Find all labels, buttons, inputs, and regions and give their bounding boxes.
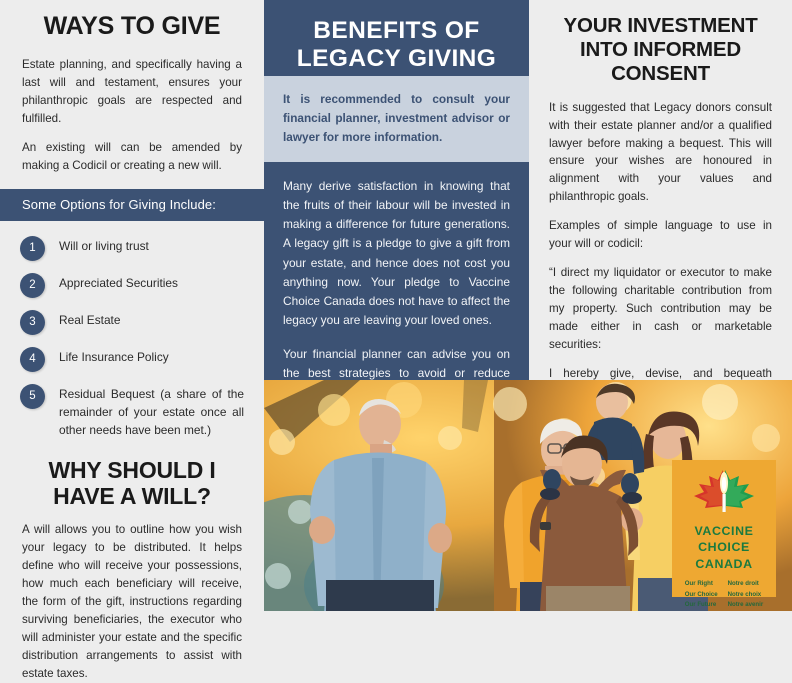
logo-tagline: Our Right Our Choice Our Future Notre dr… [672,579,776,610]
consent-paragraph-2: Examples of simple language to use in yo… [549,217,772,253]
option-number-badge: 2 [20,273,45,298]
ways-to-give-heading: WAYS TO GIVE [0,0,264,40]
logo-wordmark: VACCINE CHOICE CANADA [672,523,776,572]
tagline-fr-1: Notre droit [728,579,764,589]
why-will-body: A will allows you to outline how you wis… [0,510,264,683]
logo-tagline-english: Our Right Our Choice Our Future [685,579,718,610]
intro-paragraph-1: Estate planning, and specifically having… [22,56,242,128]
logo-line-3: CANADA [672,556,776,572]
left-column: WAYS TO GIVE Estate planning, and specif… [0,0,264,611]
option-label: Appreciated Securities [59,272,178,293]
giving-options-list: 1 Will or living trust 2 Appreciated Sec… [0,221,264,440]
list-item: 5 Residual Bequest (a share of the remai… [20,383,244,440]
option-number-badge: 4 [20,347,45,372]
benefits-heading: BENEFITS OF LEGACY GIVING [264,0,529,76]
option-number-badge: 1 [20,236,45,261]
option-number-badge: 5 [20,384,45,409]
intro-paragraph-2: An existing will can be amended by makin… [22,139,242,175]
benefits-callout: It is recommended to consult your financ… [264,76,529,162]
option-label: Residual Bequest (a share of the remaind… [59,383,244,440]
list-item: 3 Real Estate [20,309,244,335]
tagline-en-2: Our Choice [685,590,718,600]
options-bar: Some Options for Giving Include: [0,189,264,221]
benefits-body: Many derive satisfaction in knowing that… [264,162,529,395]
tagline-fr-3: Notre avenir [728,600,764,610]
why-will-heading: WHY SHOULD I HAVE A WILL? [0,458,264,510]
list-item: 4 Life Insurance Policy [20,346,244,372]
logo-line-2: CHOICE [672,539,776,555]
consent-paragraph-1: It is suggested that Legacy donors consu… [549,99,772,207]
benefits-paragraph-1: Many derive satisfaction in knowing that… [283,177,510,329]
why-will-section: WHY SHOULD I HAVE A WILL? A will allows … [0,458,264,682]
option-label: Real Estate [59,309,120,330]
logo-line-1: VACCINE [672,523,776,539]
tagline-fr-2: Notre choix [728,590,764,600]
informed-consent-heading: YOUR INVESTMENT INTO INFORMED CONSENT [529,0,792,87]
brochure-page: WAYS TO GIVE Estate planning, and specif… [0,0,792,611]
list-item: 1 Will or living trust [20,235,244,261]
tagline-en-3: Our Future [685,600,718,610]
consent-paragraph-3: “I direct my liquidator or executor to m… [549,264,772,354]
ways-to-give-intro: Estate planning, and specifically having… [0,40,264,175]
list-item: 2 Appreciated Securities [20,272,244,298]
maple-leaf-flame-icon [672,466,776,522]
why-will-paragraph: A will allows you to outline how you wis… [22,521,242,683]
option-label: Life Insurance Policy [59,346,169,367]
option-number-badge: 3 [20,310,45,335]
vaccine-choice-canada-logo: VACCINE CHOICE CANADA Our Right Our Choi… [672,460,776,597]
option-label: Will or living trust [59,235,149,256]
logo-tagline-french: Notre droit Notre choix Notre avenir [728,579,764,610]
tagline-en-1: Our Right [685,579,718,589]
